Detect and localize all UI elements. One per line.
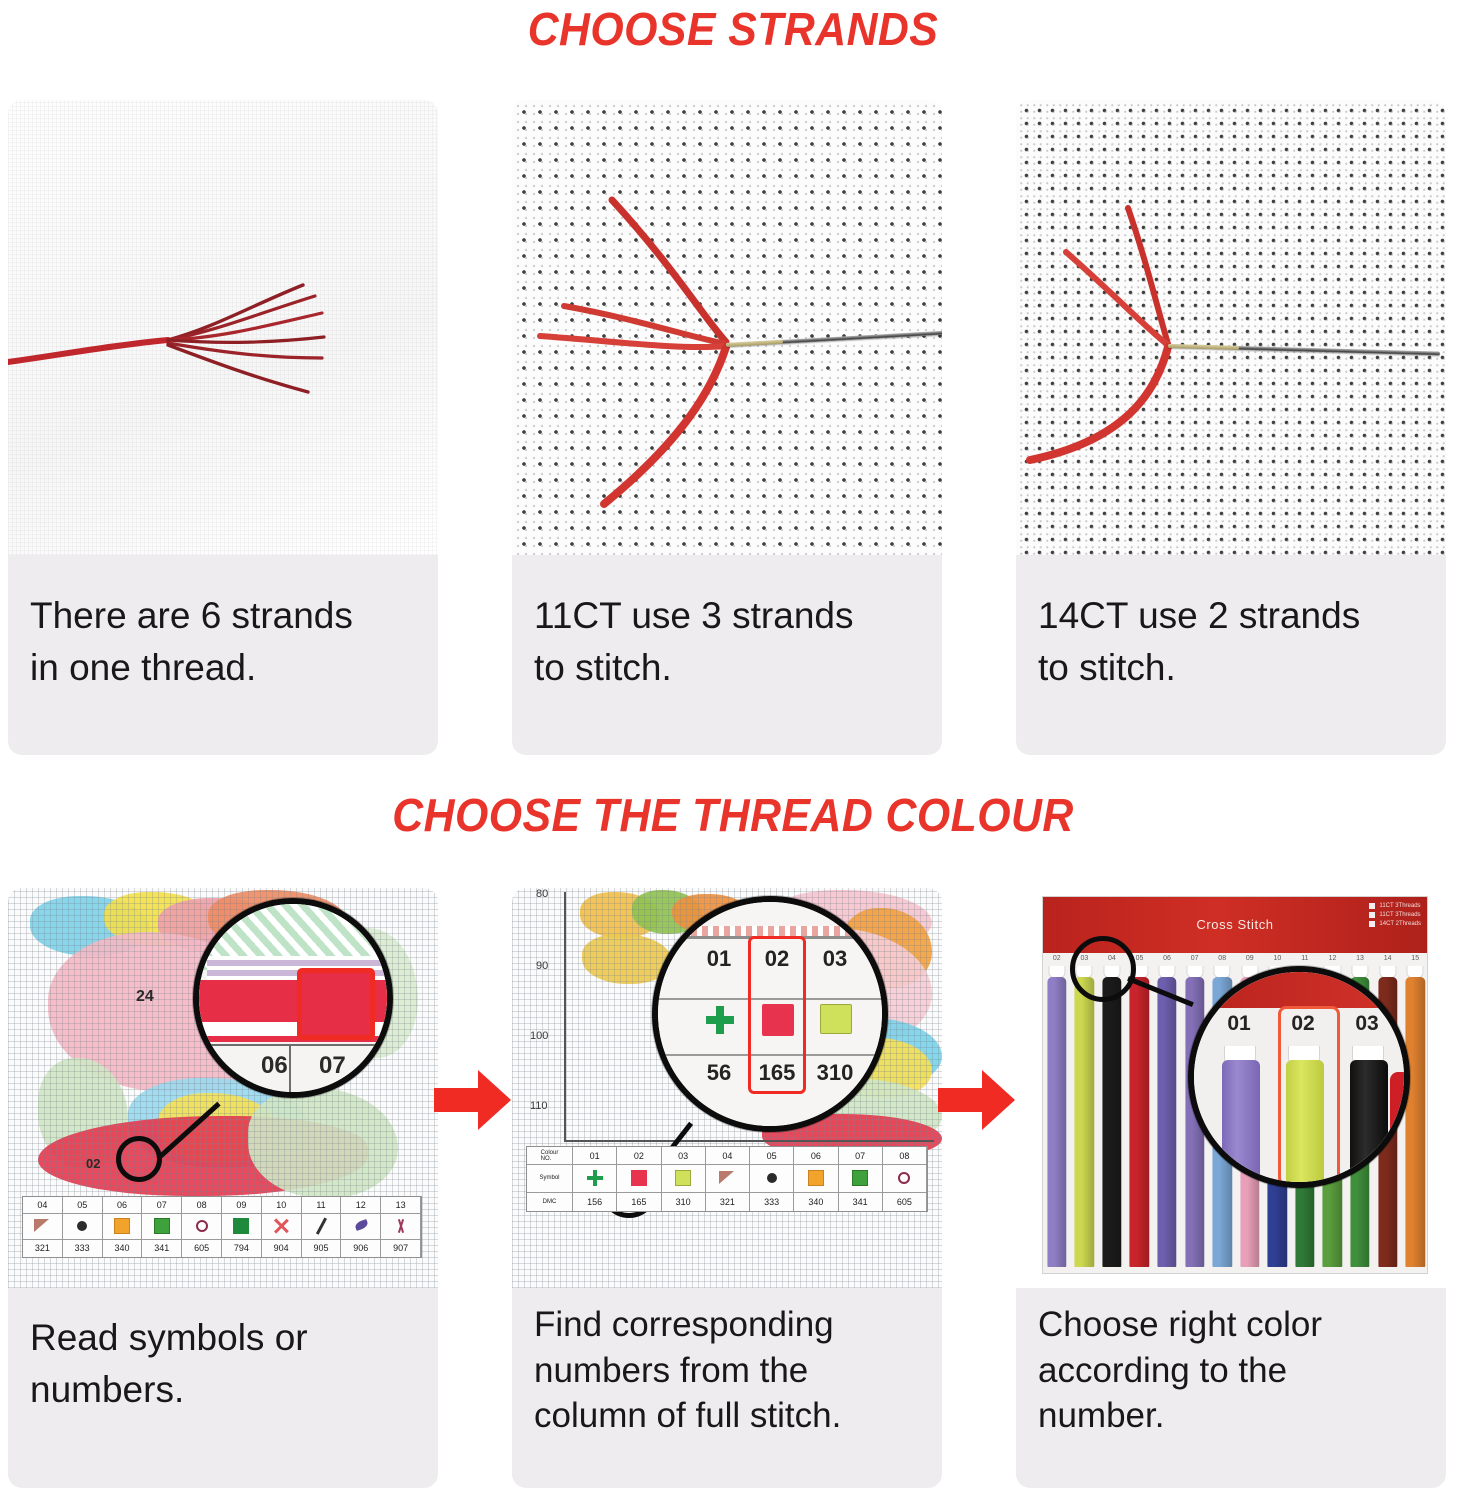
- legend-item-1: 11CT 3Threads: [1369, 903, 1421, 909]
- dot-icon: [763, 1169, 781, 1187]
- thread-skein-04: [1102, 977, 1121, 1267]
- legend-symbol-cell-4: [182, 1214, 222, 1240]
- magnified-header-03: 03: [1336, 1012, 1398, 1036]
- magnifier-lens: 01 02 03: [1188, 966, 1410, 1188]
- thread-slot-number: 07: [1181, 955, 1209, 962]
- arrow-1-to-2-icon: [434, 1070, 512, 1130]
- axis-tick-110: 110: [530, 1100, 548, 1112]
- green-filled-square-icon: [232, 1217, 250, 1235]
- legend-symbol-cell-2: [662, 1165, 706, 1192]
- magnified-header-03: 03: [808, 946, 862, 972]
- thread-skein-02: [1047, 977, 1066, 1267]
- thread-slot-number: 10: [1264, 955, 1292, 962]
- page-title-choose-strands: CHOOSE STRANDS: [51, 2, 1414, 56]
- arrow-2-to-3-icon: [938, 1070, 1016, 1130]
- green-plus-icon: [706, 1006, 734, 1034]
- magnifier-highlight-box: [297, 968, 375, 1040]
- magnified-code-310: 310: [808, 1060, 862, 1086]
- caption-line-1: 14CT use 2 strands: [1038, 590, 1424, 642]
- legend-code-321: 321: [23, 1240, 63, 1257]
- thread-slot-15: 15: [1401, 955, 1428, 1273]
- legend-code-341: 341: [142, 1240, 182, 1257]
- legend-code-605: 605: [182, 1240, 222, 1257]
- green-square-icon: [153, 1217, 171, 1235]
- card-six-strands: There are 6 strands in one thread.: [8, 100, 438, 755]
- magnifier-focus-ring: [1070, 936, 1136, 1002]
- thread-slot-number: 06: [1153, 955, 1181, 962]
- photo-cross-stitch-chart: 24 02 06 07 04050607: [8, 888, 438, 1288]
- card-find-numbers: 80 90 100 110 01 02 03: [512, 888, 942, 1488]
- legend-symbol-cell-7: [883, 1165, 927, 1192]
- axis-tick-90: 90: [536, 960, 548, 972]
- skein-01: [1222, 1060, 1260, 1188]
- thread-six-strands-illustration: [8, 100, 438, 555]
- legend-symbol-cell-2: [103, 1214, 143, 1240]
- caption-line-1: 11CT use 3 strands: [534, 590, 920, 642]
- legend-header-11: 11: [302, 1197, 342, 1214]
- legend-code-333: 333: [63, 1240, 103, 1257]
- magnifier-highlight-box: [748, 936, 806, 1094]
- caption-line-2: numbers.: [30, 1364, 416, 1416]
- thread-slot-number: 09: [1236, 955, 1264, 962]
- legend-item-2: 11CT 3Threads: [1369, 912, 1421, 918]
- legend-symbol-cell-0: [573, 1165, 617, 1192]
- photo-thread-card: Cross Stitch 11CT 3Threads 11CT 3Threads…: [1016, 888, 1446, 1288]
- chart-cell-label: 24: [136, 988, 154, 1006]
- legend-code-605: 605: [883, 1193, 927, 1211]
- caption-line-1: Find corresponding: [534, 1302, 920, 1348]
- green-square-icon: [851, 1169, 869, 1187]
- legend-code-340: 340: [794, 1193, 838, 1211]
- thread-slot-number: 02: [1043, 955, 1071, 962]
- axis-tick-100: 100: [530, 1030, 548, 1042]
- legend-item-3: 14CT 2Threads: [1369, 921, 1421, 927]
- legend-symbol-cell-1: [63, 1214, 103, 1240]
- thread-slot-number: 08: [1208, 955, 1236, 962]
- infographic-page: CHOOSE STRANDS There are 6 strands in on…: [0, 0, 1466, 1500]
- thread-three-strands-illustration: [512, 100, 942, 555]
- thread-slot-number: 14: [1374, 955, 1402, 962]
- legend-code-905: 905: [302, 1240, 342, 1257]
- legend-code-321: 321: [706, 1193, 750, 1211]
- chart-mark-label: 02: [86, 1156, 100, 1171]
- legend-code-310: 310: [662, 1193, 706, 1211]
- legend-header-01: 01: [573, 1147, 617, 1165]
- legend-header-07: 07: [839, 1147, 883, 1165]
- legend-header-09: 09: [222, 1197, 262, 1214]
- thread-slot-number: 15: [1401, 955, 1428, 962]
- backslash-icon: [312, 1217, 330, 1235]
- red-square-icon: [630, 1169, 648, 1187]
- magnified-code-56: 56: [692, 1060, 746, 1086]
- magnifier-lens: 06 07: [193, 898, 393, 1098]
- card-choose-color: Cross Stitch 11CT 3Threads 11CT 3Threads…: [1016, 888, 1446, 1488]
- magnifier-lens: 01 02 03 56 165 310: [652, 896, 888, 1132]
- caption-line-2: to stitch.: [1038, 642, 1424, 694]
- thread-slot-02: 02: [1043, 955, 1071, 1273]
- legend-header-13: 13: [381, 1197, 421, 1214]
- legend-symbol-cell-6: [262, 1214, 302, 1240]
- thread-slot-06: 06: [1153, 955, 1181, 1273]
- caption-find-numbers: Find corresponding numbers from the colu…: [512, 1302, 942, 1439]
- magnifier-focus-ring: [116, 1136, 162, 1182]
- magnified-header-01: 01: [1208, 1012, 1270, 1036]
- checkbox-icon: [1369, 921, 1375, 927]
- photo-chart-with-axis: 80 90 100 110 01 02 03: [512, 888, 942, 1288]
- thread-slot-number: 12: [1319, 955, 1347, 962]
- legend-symbol-cell-5: [794, 1165, 838, 1192]
- legend-code-156: 156: [573, 1193, 617, 1211]
- legend-row-label: Colour NO.: [527, 1147, 573, 1165]
- triangle-icon: [33, 1217, 51, 1235]
- caption-line-2: in one thread.: [30, 642, 416, 694]
- thread-skein-15: [1406, 977, 1425, 1267]
- caption-line-3: number.: [1038, 1393, 1424, 1439]
- legend-header-03: 03: [662, 1147, 706, 1165]
- orange-square-icon: [113, 1217, 131, 1235]
- legend-header-04: 04: [706, 1147, 750, 1165]
- thread-skein-06: [1157, 977, 1176, 1267]
- card-11ct-three-strands: 11CT use 3 strands to stitch.: [512, 100, 942, 755]
- caption-line-1: Read symbols or: [30, 1312, 416, 1364]
- legend-header-07: 07: [142, 1197, 182, 1214]
- cross-stitch-pattern: 24 02 06 07 04050607: [8, 888, 438, 1288]
- orange-square-icon: [807, 1169, 825, 1187]
- magnified-header-01: 01: [692, 946, 746, 972]
- yellow-green-square-icon: [674, 1169, 692, 1187]
- thread-slot-03: 03: [1071, 955, 1099, 1273]
- caption-line-2: to stitch.: [534, 642, 920, 694]
- skein-03: [1350, 1060, 1388, 1188]
- thread-slot-number: 11: [1291, 955, 1319, 962]
- legend-symbol-cell-0: [23, 1214, 63, 1240]
- thread-card-legend: 11CT 3Threads 11CT 3Threads 14CT 2Thread…: [1369, 903, 1421, 927]
- photo-11ct-aida: [512, 100, 942, 555]
- card-read-symbols: 24 02 06 07 04050607: [8, 888, 438, 1488]
- caption-line-1: Choose right color: [1038, 1302, 1424, 1348]
- x-cross-icon: [272, 1217, 290, 1235]
- caption-line-2: numbers from the: [534, 1348, 920, 1394]
- legend-code-794: 794: [222, 1240, 262, 1257]
- circle-outline-icon: [193, 1217, 211, 1235]
- chart-x-axis: [564, 1140, 934, 1142]
- legend-symbol-cell-5: [222, 1214, 262, 1240]
- caption-line-1: There are 6 strands: [30, 590, 416, 642]
- checkbox-icon: [1369, 912, 1375, 918]
- page-title-choose-thread-colour: CHOOSE THE THREAD COLOUR: [51, 788, 1414, 842]
- legend-symbol-cell-3: [706, 1165, 750, 1192]
- legend-header-06: 06: [794, 1147, 838, 1165]
- legend-row-label: DMC: [527, 1193, 573, 1211]
- legend-header-05: 05: [63, 1197, 103, 1214]
- cross-stitch-pattern-axis: 80 90 100 110 01 02 03: [512, 888, 942, 1288]
- thread-slot-05: 05: [1126, 955, 1154, 1273]
- legend-symbol-cell-7: [302, 1214, 342, 1240]
- caption-choose-color: Choose right color according to the numb…: [1016, 1302, 1446, 1439]
- thread-slot-04: 04: [1098, 955, 1126, 1273]
- magnifier-label-2: 07: [319, 1052, 346, 1080]
- legend-code-907: 907: [381, 1240, 421, 1257]
- legend-symbol-cell-3: [142, 1214, 182, 1240]
- photo-14ct-aida: [1016, 100, 1446, 555]
- legend-code-341: 341: [839, 1193, 883, 1211]
- legend-symbol-cell-1: [617, 1165, 661, 1192]
- legend-header-05: 05: [750, 1147, 794, 1165]
- leaf-icon: [352, 1217, 370, 1235]
- caption-14ct: 14CT use 2 strands to stitch.: [1016, 590, 1446, 694]
- symbol-legend-table: 0405060708091011121332133334034160579490…: [22, 1196, 422, 1258]
- card-14ct-two-strands: 14CT use 2 strands to stitch.: [1016, 100, 1446, 755]
- legend-code-340: 340: [103, 1240, 143, 1257]
- caption-six-strands: There are 6 strands in one thread.: [8, 590, 438, 694]
- dmc-legend-table: Colour NO.0102030405060708SymbolDMC15616…: [526, 1146, 928, 1212]
- caret-icon: [392, 1217, 410, 1235]
- triangle-icon: [718, 1169, 736, 1187]
- thread-skein-03: [1075, 977, 1094, 1267]
- legend-code-165: 165: [617, 1193, 661, 1211]
- caption-11ct: 11CT use 3 strands to stitch.: [512, 590, 942, 694]
- dot-icon: [73, 1217, 91, 1235]
- legend-header-06: 06: [103, 1197, 143, 1214]
- magnifier-highlight-box: [1278, 1006, 1340, 1186]
- legend-symbol-cell-8: [341, 1214, 381, 1240]
- legend-header-12: 12: [341, 1197, 381, 1214]
- legend-header-02: 02: [617, 1147, 661, 1165]
- legend-header-08: 08: [182, 1197, 222, 1214]
- legend-code-906: 906: [341, 1240, 381, 1257]
- caption-read-symbols: Read symbols or numbers.: [8, 1312, 438, 1416]
- chart-y-axis: [564, 892, 566, 1142]
- yellow-green-square-icon: [820, 1004, 852, 1034]
- thread-slot-number: 13: [1346, 955, 1374, 962]
- legend-code-904: 904: [262, 1240, 302, 1257]
- caption-line-3: column of full stitch.: [534, 1393, 920, 1439]
- axis-tick-80: 80: [536, 888, 548, 900]
- thread-skein-05: [1130, 977, 1149, 1267]
- checkbox-icon: [1369, 903, 1375, 909]
- legend-symbol-cell-9: [381, 1214, 421, 1240]
- legend-header-10: 10: [262, 1197, 302, 1214]
- legend-header-08: 08: [883, 1147, 927, 1165]
- legend-symbol-cell-6: [839, 1165, 883, 1192]
- magnifier-label-1: 06: [261, 1052, 288, 1080]
- circle-outline-icon: [895, 1169, 913, 1187]
- photo-six-strands: [8, 100, 438, 555]
- green-plus-icon: [586, 1169, 604, 1187]
- legend-header-04: 04: [23, 1197, 63, 1214]
- thread-two-strands-illustration: [1016, 100, 1446, 555]
- legend-code-333: 333: [750, 1193, 794, 1211]
- legend-row-label: Symbol: [527, 1165, 573, 1192]
- caption-line-2: according to the: [1038, 1348, 1424, 1394]
- legend-symbol-cell-4: [750, 1165, 794, 1192]
